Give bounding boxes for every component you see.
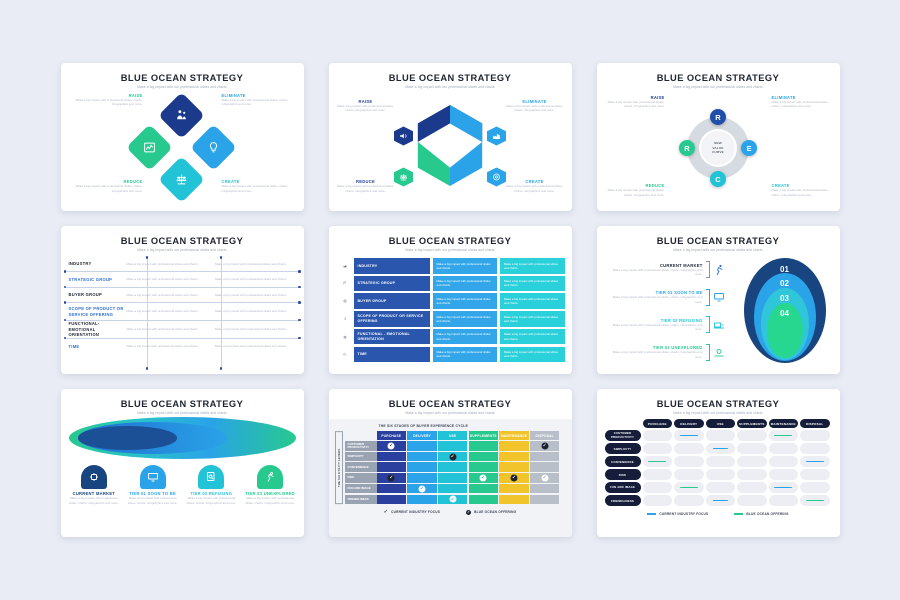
ellipse-inner [78, 426, 178, 450]
row-icon [339, 293, 351, 309]
column-header[interactable]: MAINTENANCE [769, 419, 799, 428]
flag-icon [343, 279, 347, 287]
matrix-cell[interactable] [674, 443, 704, 454]
node-text: Make a big impact with professional slid… [603, 188, 665, 197]
card2-body: RAISE Make a big impact with professiona… [329, 89, 572, 207]
page-subtitle: Make a big impact with our professional … [329, 248, 572, 252]
row-label[interactable]: FUN AND IMAGE [605, 482, 641, 493]
matrix-cell[interactable] [737, 495, 767, 506]
matrix-cell[interactable]: ✓ [499, 473, 529, 483]
row-cell: Make a big impact with professional slid… [500, 293, 565, 309]
slide-card-9[interactable]: BLUE OCEAN STRATEGY Make a big impact wi… [597, 389, 840, 537]
card9-matrix-rows [643, 430, 830, 506]
slide-header: BLUE OCEAN STRATEGY Make a big impact wi… [329, 389, 572, 420]
matrix-cell[interactable] [769, 482, 799, 493]
bar-offering [648, 461, 666, 463]
check-focus-icon: ✓ [480, 474, 487, 481]
card2-quad-raise: RAISE Make a big impact with professiona… [335, 99, 397, 113]
matrix-cell[interactable] [407, 495, 437, 505]
row-label[interactable]: SCOPE OF PRODUCT OR SERVICE OFFERING [354, 311, 430, 327]
tier-text: Make a big impact with professional slid… [605, 268, 703, 277]
matrix-cell[interactable] [706, 430, 736, 441]
column-header[interactable]: DISPOSAL [800, 419, 830, 428]
row-label[interactable]: RISK [605, 469, 641, 480]
icon-column [339, 258, 351, 362]
row-cell: Make a big impact with professional slid… [500, 347, 565, 363]
row-label[interactable]: BUYER GROUP [354, 293, 430, 309]
matrix-cell[interactable] [737, 430, 767, 441]
table-row[interactable]: FUNCTIONAL-EMOTIONAL ORIENTATION Make a … [61, 321, 304, 339]
ring-center-label: NEW VALUE CURVE [701, 131, 735, 165]
matrix-cell[interactable] [469, 441, 499, 451]
matrix-cell[interactable] [643, 469, 673, 480]
tier-text: Make a big impact with professional slid… [125, 496, 180, 505]
node-text: Make a big impact with professional slid… [772, 100, 834, 109]
row-cell-2: Make a big impact with professional slid… [215, 344, 304, 348]
page-title: BLUE OCEAN STRATEGY [61, 73, 304, 83]
matrix-cell[interactable] [769, 456, 799, 467]
page-title: BLUE OCEAN STRATEGY [597, 236, 840, 246]
quad-text: Make a big impact with professional slid… [504, 104, 566, 113]
slide-header: BLUE OCEAN STRATEGY Make a big impact wi… [329, 226, 572, 252]
matrix-rows: ✓ ✓ ✓ [377, 441, 560, 504]
matrix-cell[interactable] [800, 443, 830, 454]
bar-focus-swatch [647, 513, 656, 515]
content-column-1: Make a big impact with professional slid… [433, 258, 498, 362]
bar-focus [713, 448, 728, 450]
matrix-cell[interactable] [530, 452, 560, 462]
hexagon-ring-svg [404, 100, 496, 192]
legend-label: CURRENT INDUSTRY FOCUS [659, 512, 708, 516]
row-cell-1: Make a big impact with professional slid… [127, 309, 216, 313]
matrix-cell[interactable] [769, 430, 799, 441]
center-line-3: CURVE [712, 150, 724, 154]
matrix-cell[interactable] [674, 469, 704, 480]
matrix-cell[interactable] [674, 495, 704, 506]
slide-header: BLUE OCEAN STRATEGY Make a big impact wi… [61, 389, 304, 415]
matrix-cell[interactable] [800, 469, 830, 480]
table-row[interactable]: INDUSTRY Make a big impact with professi… [61, 256, 304, 272]
desk-icon [713, 319, 725, 331]
matrix-cell[interactable] [706, 443, 736, 454]
matrix-cell[interactable] [800, 430, 830, 441]
card6-tier-list: CURRENT MARKET Make a big impact with pr… [605, 256, 725, 366]
row-cell: Make a big impact with professional slid… [433, 347, 498, 363]
page-title: BLUE OCEAN STRATEGY [329, 73, 572, 83]
matrix-cell[interactable] [530, 462, 560, 472]
row-cell-1: Make a big impact with professional slid… [127, 293, 216, 297]
matrix-cell[interactable]: ✓ [377, 441, 407, 451]
card1-body: RAISE Make a big impact with professiona… [61, 89, 304, 207]
matrix-cell[interactable] [530, 495, 560, 505]
tier-text: Make a big impact with professional slid… [605, 350, 703, 359]
page-subtitle: Make a big impact with our professional … [61, 248, 304, 252]
matrix-cell[interactable] [407, 452, 437, 462]
tier-icon-badge [140, 465, 166, 489]
matrix-cell[interactable] [769, 469, 799, 480]
runner-icon [713, 264, 725, 276]
row-cell-1: Make a big impact with professional slid… [127, 277, 216, 281]
matrix-cell[interactable] [737, 482, 767, 493]
page-title: BLUE OCEAN STRATEGY [329, 399, 572, 409]
matrix-cell[interactable] [706, 482, 736, 493]
slide-gallery: BLUE OCEAN STRATEGY Make a big impact wi… [0, 0, 900, 600]
matrix-cell[interactable] [769, 443, 799, 454]
column-header[interactable]: PURCHASE [643, 419, 673, 428]
matrix-cell[interactable]: ✓ [377, 473, 407, 483]
column-header[interactable]: SUPPLEMENTS [469, 431, 499, 440]
oval-number: 02 [780, 279, 789, 288]
tier-icon-badge [198, 465, 224, 489]
matrix-cell[interactable] [377, 484, 407, 494]
matrix-cell[interactable]: ✓ [530, 441, 560, 451]
content-column-2: Make a big impact with professional slid… [500, 258, 565, 362]
card8-side-label: THE SIX UTILITY LEVERS [335, 431, 343, 504]
page-subtitle: Make a big impact with our professional … [597, 411, 840, 415]
row-cell: Make a big impact with professional slid… [433, 329, 498, 345]
bracket [706, 289, 710, 306]
matrix-cell[interactable] [706, 469, 736, 480]
matrix-cell[interactable] [674, 430, 704, 441]
matrix-cell[interactable] [737, 456, 767, 467]
matrix-cell[interactable] [643, 495, 673, 506]
oval-tier-04[interactable]: 04 [767, 303, 803, 358]
node-text: Make a big impact with professional slid… [603, 100, 665, 109]
node-eliminate[interactable]: E [741, 140, 757, 156]
legend-label: BLUE OCEAN OFFERING [746, 512, 788, 516]
column-header[interactable]: DELIVERY [407, 431, 437, 440]
matrix-cell[interactable] [469, 484, 499, 494]
matrix-cell[interactable] [706, 456, 736, 467]
matrix-cell[interactable] [800, 456, 830, 467]
tier-text: Make a big impact with professional slid… [67, 496, 122, 505]
row-label: TIME [61, 344, 127, 349]
bracket [706, 344, 710, 361]
runner-icon [264, 471, 276, 483]
matrix-cell[interactable] [643, 443, 673, 454]
card3-item-raise: RAISE Make a big impact with professiona… [603, 95, 665, 109]
bar-focus [680, 435, 698, 437]
slide-card-2[interactable]: BLUE OCEAN STRATEGY Make a big impact wi… [329, 63, 572, 211]
bracket [706, 316, 710, 333]
matrix-cell[interactable]: ✓ [407, 484, 437, 494]
matrix-cell[interactable]: ✓ [438, 452, 468, 462]
value-curve-ring: NEW VALUE CURVE R E R C [687, 117, 749, 179]
card4-body: INDUSTRY Make a big impact with professi… [61, 256, 304, 370]
slide-card-8[interactable]: BLUE OCEAN STRATEGY Make a big impact wi… [329, 389, 572, 537]
matrix-cell[interactable] [737, 469, 767, 480]
row-label[interactable]: CONVENIENCE [605, 456, 641, 467]
matrix-cell[interactable] [499, 462, 529, 472]
slide-header: BLUE OCEAN STRATEGY Make a big impact wi… [61, 226, 304, 252]
row-cell-1: Make a big impact with professional slid… [127, 344, 216, 348]
matrix-cell[interactable] [407, 441, 437, 451]
slide-card-4[interactable]: BLUE OCEAN STRATEGY Make a big impact wi… [61, 226, 304, 374]
row-label[interactable]: CUSTOMER PRODUCTIVITY [605, 430, 641, 441]
quad-text: Make a big impact with professional slid… [222, 184, 296, 193]
row-cell-2: Make a big impact with professional slid… [215, 309, 304, 313]
row-label[interactable]: INDUSTRY [354, 258, 430, 274]
row-label: SCOPE OF PRODUCT OR SERVICE OFFERING [61, 306, 127, 317]
card3-item-create: CREATE Make a big impact with profession… [772, 183, 834, 197]
matrix-cell[interactable] [800, 482, 830, 493]
matrix-cell[interactable] [499, 495, 529, 505]
matrix-cell[interactable] [407, 473, 437, 483]
people-icon [175, 109, 188, 122]
row-label: INDUSTRY [61, 261, 127, 266]
row-cell: Make a big impact with professional slid… [500, 311, 565, 327]
matrix-cell[interactable]: ✓ [469, 473, 499, 483]
row-cell: Make a big impact with professional slid… [433, 311, 498, 327]
tier-text: Make a big impact with professional slid… [605, 323, 703, 332]
matrix-cell[interactable] [438, 441, 468, 451]
diamond-raise[interactable] [126, 124, 173, 171]
bracket [706, 261, 710, 278]
diamond-reduce[interactable] [158, 156, 205, 203]
table-row[interactable]: SCOPE OF PRODUCT OR SERVICE OFFERING Mak… [61, 303, 304, 321]
matrix-cell[interactable] [643, 482, 673, 493]
card2-quad-create: CREATE Make a big impact with profession… [504, 179, 566, 193]
table-row[interactable]: BUYER GROUP Make a big impact with profe… [61, 287, 304, 303]
slide-header: BLUE OCEAN STRATEGY Make a big impact wi… [61, 63, 304, 89]
matrix-cell[interactable] [377, 462, 407, 472]
slide-card-5[interactable]: BLUE OCEAN STRATEGY Make a big impact wi… [329, 226, 572, 374]
card1-quad-raise: RAISE Make a big impact with professiona… [69, 93, 143, 107]
row-label: FRIENDLINESS [345, 495, 377, 505]
row-icon [339, 347, 351, 363]
quad-text: Make a big impact with professional slid… [335, 184, 397, 193]
oval-number: 04 [780, 309, 789, 318]
row-cell: Make a big impact with professional slid… [500, 329, 565, 345]
bar-offering [774, 435, 792, 437]
matrix-cell[interactable] [800, 495, 830, 506]
matrix-cell[interactable] [377, 495, 407, 505]
column-header[interactable]: DISPOSAL [530, 431, 560, 440]
matrix-cell[interactable] [499, 452, 529, 462]
quad-text: Make a big impact with professional slid… [504, 184, 566, 193]
matrix-cell[interactable] [469, 495, 499, 505]
check-focus-icon: ✓ [384, 509, 388, 515]
node-reduce[interactable]: R [679, 140, 695, 156]
column-header[interactable]: DELIVERY [674, 419, 704, 428]
row-cell-1: Make a big impact with professional slid… [127, 327, 216, 331]
matrix-cell[interactable] [737, 443, 767, 454]
legend-label: BLUE OCEAN OFFERING [474, 510, 516, 514]
card3-body: NEW VALUE CURVE R E R C RAISE Make a big… [597, 89, 840, 207]
card9-grid-wrap: CUSTOMER PRODUCTIVITY SIMPLICITY CONVENI… [597, 419, 840, 506]
matrix-cell[interactable] [438, 484, 468, 494]
row-cell-1: Make a big impact with professional slid… [127, 262, 216, 266]
tier-item[interactable]: TIER 02 REFUSING Make a big impact with … [605, 316, 725, 333]
row-icon [339, 276, 351, 292]
row-icon [339, 258, 351, 274]
row-label[interactable]: SIMPLICITY [605, 443, 641, 454]
lightbulb-icon [207, 141, 220, 154]
card9-legend: CURRENT INDUSTRY FOCUS BLUE OCEAN OFFERI… [597, 512, 840, 516]
card8-heading: THE SIX STAGES OF BUYER EXPERIENCE CYCLE [379, 424, 572, 428]
matrix-cell[interactable] [499, 441, 529, 451]
table-row[interactable]: TIME Make a big impact with professional… [61, 339, 304, 355]
card8-panel: THE SIX STAGES OF BUYER EXPERIENCE CYCLE… [329, 419, 572, 537]
page-title: BLUE OCEAN STRATEGY [61, 236, 304, 246]
card8-matrix: PURCHASE DELIVERY USE SUPPLEMENTS MAINTE… [377, 431, 560, 504]
bar-offering [680, 487, 698, 489]
row-label[interactable]: FRIENDLINESS [605, 495, 641, 506]
row-cell-2: Make a big impact with professional slid… [215, 277, 304, 281]
matrix-cell[interactable] [469, 462, 499, 472]
check-focus-icon: ✓ [541, 474, 548, 481]
megaphone-icon [399, 132, 408, 141]
tier-item[interactable]: TIER 01 SOON TO BE Make a big impact wit… [125, 465, 180, 505]
tier-text: Make a big impact with professional slid… [243, 496, 298, 505]
matrix-cell[interactable] [674, 482, 704, 493]
check-offering-icon: ✓ [388, 474, 395, 481]
card7-body: CURRENT MARKET Make a big impact with pr… [61, 415, 304, 533]
bar-offering-swatch [734, 513, 743, 515]
matrix-cell[interactable] [706, 495, 736, 506]
tier-item[interactable]: TIER 02 REFUSING Make a big impact with … [184, 465, 239, 505]
matrix-cell[interactable]: ✓ [530, 473, 560, 483]
check-offering-icon: ✓ [541, 442, 548, 449]
row-cell-2: Make a big impact with professional slid… [215, 293, 304, 297]
label-column: INDUSTRY STRATEGIC GROUP BUYER GROUP SCO… [354, 258, 430, 362]
column-header[interactable]: MAINTENANCE [499, 431, 529, 440]
card1-quad-create: CREATE Make a big impact with profession… [222, 179, 296, 193]
target-icon [492, 173, 501, 182]
matrix-cell[interactable] [769, 495, 799, 506]
node-raise[interactable]: R [710, 109, 726, 125]
card9-header-row: PURCHASE DELIVERY USE SUPPLEMENTS MAINTE… [643, 419, 830, 428]
matrix-cell[interactable] [438, 462, 468, 472]
row-label: RISK [345, 473, 377, 483]
matrix-cell[interactable] [407, 462, 437, 472]
tier-item[interactable]: TIER 01 SOON TO BE Make a big impact wit… [605, 289, 725, 306]
matrix-cell[interactable] [674, 456, 704, 467]
card2-quad-reduce: REDUCE Make a big impact with profession… [335, 179, 397, 193]
gear-icon [343, 297, 347, 305]
row-label[interactable]: TIME [354, 347, 430, 363]
row-label[interactable]: STRATEGIC GROUP [354, 276, 430, 292]
card9-row-labels: CUSTOMER PRODUCTIVITY SIMPLICITY CONVENI… [605, 419, 641, 506]
row-cell: Make a big impact with professional slid… [500, 276, 565, 292]
row-label: SIMPLICITY [345, 452, 377, 462]
matrix-cell[interactable] [469, 452, 499, 462]
slide-header: BLUE OCEAN STRATEGY Make a big impact wi… [597, 63, 840, 89]
bar-focus [774, 487, 792, 489]
legend-item-focus: ✓ CURRENT INDUSTRY FOCUS [384, 509, 440, 515]
legend-label: CURRENT INDUSTRY FOCUS [391, 510, 440, 514]
tier-text: Make a big impact with professional slid… [605, 295, 703, 304]
check-focus-icon: ✓ [449, 496, 456, 503]
matrix-cell[interactable] [377, 452, 407, 462]
matrix-cell[interactable] [530, 484, 560, 494]
tier-text: Make a big impact with professional slid… [184, 496, 239, 505]
tier-item[interactable]: TIER 03 UNEXPLORED Make a big impact wit… [243, 465, 298, 505]
card2-quad-eliminate: ELIMINATE Make a big impact with profess… [504, 99, 566, 113]
matrix-cell[interactable] [438, 473, 468, 483]
card5-body: INDUSTRY STRATEGIC GROUP BUYER GROUP SCO… [329, 254, 572, 366]
diamond-create[interactable] [190, 124, 237, 171]
card4-rows: INDUSTRY Make a big impact with professi… [61, 256, 304, 354]
row-cell: Make a big impact with professional slid… [433, 258, 498, 274]
runner-icon [343, 315, 347, 323]
row-label[interactable]: FUNCTIONAL - EMOTIONAL ORIENTATION [354, 329, 430, 345]
check-focus-icon: ✓ [388, 442, 395, 449]
node-text: Make a big impact with professional slid… [772, 188, 834, 197]
matrix-cell[interactable] [643, 430, 673, 441]
page-title: BLUE OCEAN STRATEGY [597, 399, 840, 409]
column-header[interactable]: USE [438, 431, 468, 440]
ocean-ellipse-group [69, 417, 296, 459]
card8-row-labels: CUSTOMER PRODUCTIVITY SIMPLICITY CONVENI… [345, 431, 377, 504]
page-title: BLUE OCEAN STRATEGY [597, 73, 840, 83]
matrix-cell[interactable] [643, 456, 673, 467]
quad-text: Make a big impact with professional slid… [222, 98, 296, 107]
slide-card-7[interactable]: BLUE OCEAN STRATEGY Make a big impact wi… [61, 389, 304, 537]
column-header[interactable]: SUPPLEMENTS [737, 419, 767, 428]
tier-item[interactable]: CURRENT MARKET Make a big impact with pr… [67, 465, 122, 505]
card5-table: INDUSTRY STRATEGIC GROUP BUYER GROUP SCO… [339, 258, 565, 362]
table-row[interactable]: STRATEGIC GROUP Make a big impact with p… [61, 272, 304, 288]
slide-card-6[interactable]: BLUE OCEAN STRATEGY Make a big impact wi… [597, 226, 840, 374]
card1-quad-eliminate: ELIMINATE Make a big impact with profess… [222, 93, 296, 107]
card8-header-row: PURCHASE DELIVERY USE SUPPLEMENTS MAINTE… [377, 431, 560, 440]
row-label: CONVENIENCE [345, 462, 377, 472]
card7-tier-row: CURRENT MARKET Make a big impact with pr… [67, 465, 298, 505]
node-dot [220, 367, 223, 370]
hexagon-cluster [404, 100, 496, 197]
gear-icon [713, 346, 725, 358]
tier-item[interactable]: CURRENT MARKET Make a big impact with pr… [605, 261, 725, 278]
slide-header: BLUE OCEAN STRATEGY Make a big impact wi… [329, 63, 572, 89]
node-create[interactable]: C [710, 171, 726, 187]
column-header[interactable]: USE [706, 419, 736, 428]
page-title: BLUE OCEAN STRATEGY [61, 399, 304, 409]
node-dot [146, 367, 149, 370]
slide-card-3[interactable]: BLUE OCEAN STRATEGY Make a big impact wi… [597, 63, 840, 211]
quad-text: Make a big impact with professional slid… [69, 98, 143, 107]
row-label: FUNCTIONAL-EMOTIONAL ORIENTATION [61, 321, 127, 338]
bar-focus [806, 461, 824, 463]
slide-card-1[interactable]: BLUE OCEAN STRATEGY Make a big impact wi… [61, 63, 304, 211]
matrix-cell[interactable]: ✓ [438, 495, 468, 505]
row-cell: Make a big impact with professional slid… [500, 258, 565, 274]
monitor-icon [713, 291, 725, 303]
row-cell: Make a big impact with professional slid… [433, 276, 498, 292]
factory-icon [343, 262, 347, 270]
page-title: BLUE OCEAN STRATEGY [329, 236, 572, 246]
legend-item-offering: ✓ BLUE OCEAN OFFERING [466, 509, 516, 515]
row-label: FUN AND IMAGE [345, 484, 377, 494]
diamond-eliminate[interactable] [158, 92, 205, 139]
card8-legend: ✓ CURRENT INDUSTRY FOCUS ✓ BLUE OCEAN OF… [329, 509, 572, 515]
card9-body: CUSTOMER PRODUCTIVITY SIMPLICITY CONVENI… [597, 419, 840, 533]
legend-item-offering: BLUE OCEAN OFFERING [734, 512, 788, 516]
scales-icon [343, 333, 347, 341]
tier-item[interactable]: TIER 03 UNEXPLORED Make a big impact wit… [605, 344, 725, 361]
card6-body: CURRENT MARKET Make a big impact with pr… [597, 256, 840, 370]
card6-oval-stack: 01 02 03 04 [744, 258, 826, 363]
matrix-cell[interactable] [499, 484, 529, 494]
monitor-icon [147, 471, 159, 483]
quad-text: Make a big impact with professional slid… [69, 184, 143, 193]
column-header[interactable]: PURCHASE [377, 431, 407, 440]
row-label: CUSTOMER PRODUCTIVITY [345, 441, 377, 451]
row-icon [339, 329, 351, 345]
check-offering-icon: ✓ [511, 474, 518, 481]
card1-quad-reduce: REDUCE Make a big impact with profession… [69, 179, 143, 193]
factory-icon [492, 132, 501, 141]
